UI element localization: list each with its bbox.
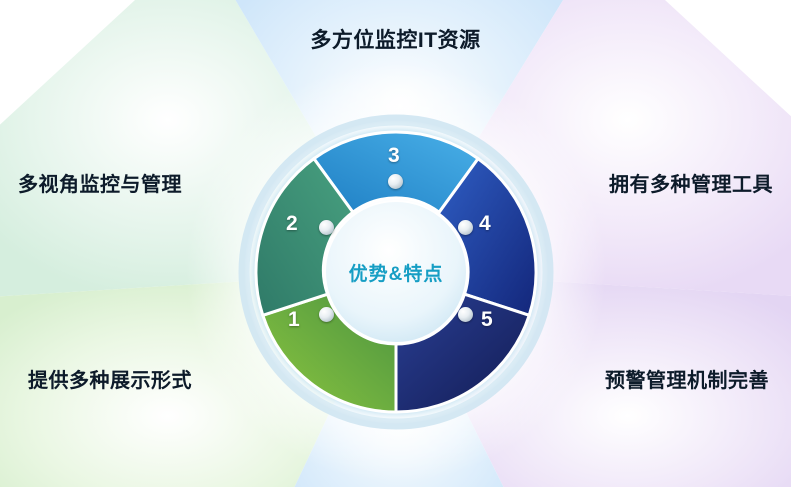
diagram-canvas: 多方位监控IT资源 多视角监控与管理 拥有多种管理工具 提供多种展示形式 预警管… <box>0 0 791 487</box>
label-bottom-left: 提供多种展示形式 <box>28 364 192 393</box>
label-top-right: 拥有多种管理工具 <box>609 168 773 197</box>
donut-chart: 优势&特点 3 4 5 1 2 <box>236 112 556 432</box>
donut-svg <box>236 112 556 432</box>
label-top: 多方位监控IT资源 <box>0 24 791 54</box>
label-bottom-right: 预警管理机制完善 <box>605 364 769 393</box>
label-top-left: 多视角监控与管理 <box>18 168 182 197</box>
